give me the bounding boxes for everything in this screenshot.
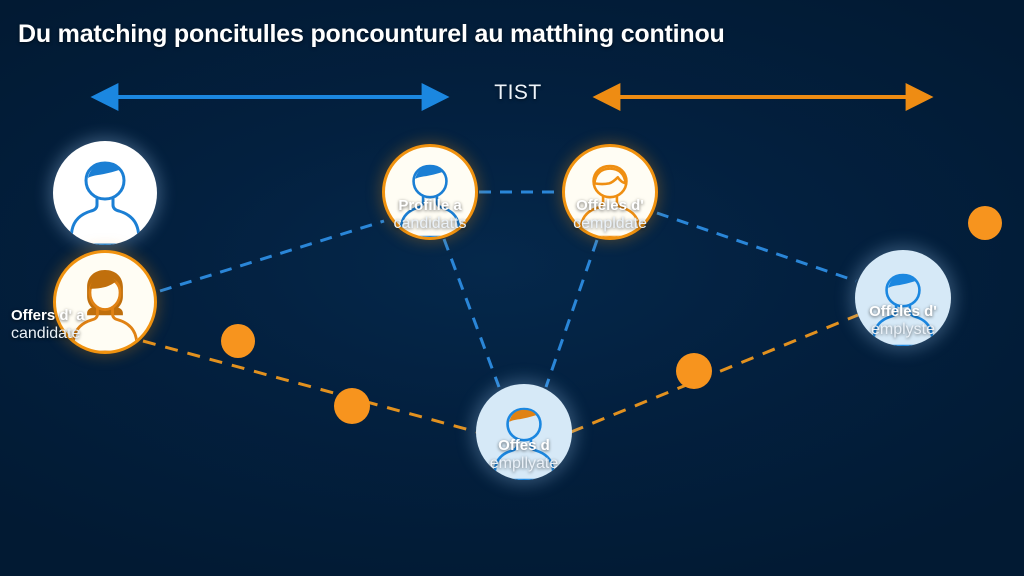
node-offers-candidate-2[interactable]: Offeles d' cempldate (562, 144, 658, 240)
orange-marker-dot (334, 388, 370, 424)
node-label-line2: candidate (11, 325, 85, 343)
node-label: Offeles d' cempldate (573, 198, 647, 233)
orange-marker-dot (968, 206, 1002, 240)
node-label-line1: Offeles d' (869, 304, 937, 321)
node-label: Offers d' a candidate (11, 308, 85, 343)
orange-marker-dot (221, 324, 255, 358)
axis-center-label: TIST (488, 81, 548, 105)
node-offers-employee-right[interactable]: Offeles d' emplyste (855, 250, 951, 346)
link-profile-to-employee-bottom (444, 239, 499, 387)
link-offers2-to-employee-bottom (546, 240, 597, 387)
node-label-line1: Offers d' a (11, 308, 85, 325)
node-candidate-plain[interactable] (53, 141, 157, 245)
orange-path-left (143, 341, 477, 432)
node-label-line1: Offeles d' (573, 198, 647, 215)
node-label: Profille a candidatts (394, 198, 467, 233)
node-label-line2: emplyste (869, 321, 937, 339)
person-icon (53, 141, 157, 245)
node-label: Offes d empllyate (490, 438, 558, 473)
node-offers-employee-bottom[interactable]: Offes d empllyate (476, 384, 572, 480)
node-label: Offeles d' emplyste (869, 304, 937, 339)
node-label-line2: candidatts (394, 215, 467, 233)
link-offers-candidate-to-profile (160, 221, 384, 291)
node-label-line1: Offes d (490, 438, 558, 455)
node-label-line2: cempldate (573, 215, 647, 233)
node-label-line2: empllyate (490, 455, 558, 473)
node-offers-candidate[interactable]: Offers d' a candidate (53, 250, 157, 354)
orange-marker-dot (676, 353, 712, 389)
slide-canvas: Du matching poncitulles poncounturel au … (0, 0, 1024, 576)
orange-path-right (571, 315, 858, 432)
node-profile-candidates[interactable]: Profille a candidatts (382, 144, 478, 240)
node-label-line1: Profille a (394, 198, 467, 215)
link-offers2-to-employee-right (657, 213, 856, 281)
